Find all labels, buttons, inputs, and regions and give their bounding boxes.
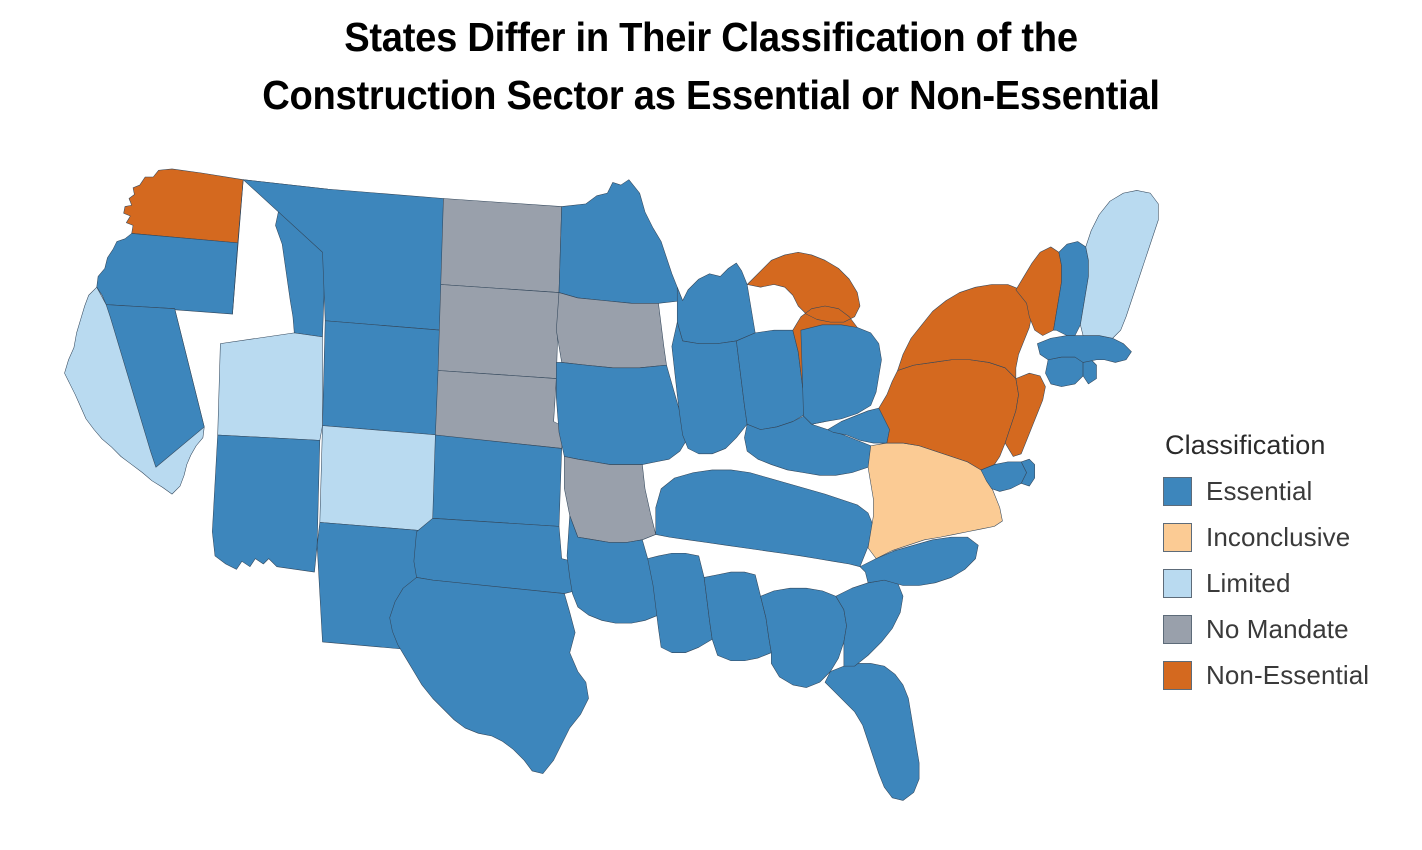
legend: Classification Essential Inconclusive Li…: [1163, 430, 1413, 698]
legend-item-non-essential[interactable]: Non-Essential: [1163, 652, 1413, 698]
legend-swatch-essential: [1163, 477, 1192, 506]
legend-label-limited: Limited: [1206, 568, 1291, 599]
state-al[interactable]: AL: Essential: [704, 572, 771, 661]
state-in[interactable]: IN: Essential: [736, 330, 806, 429]
state-ut[interactable]: UT: Limited: [218, 333, 323, 441]
state-ne[interactable]: NE: No Mandate: [435, 371, 564, 449]
state-fl[interactable]: FL: Essential: [825, 663, 919, 800]
state-me[interactable]: ME: Limited: [1080, 190, 1158, 338]
legend-label-no-mandate: No Mandate: [1206, 614, 1349, 645]
legend-swatch-inconclusive: [1163, 523, 1192, 552]
page-title: States Differ in Their Classification of…: [50, 8, 1372, 124]
state-co[interactable]: CO: Limited: [320, 426, 438, 532]
state-ri[interactable]: RI: Essential: [1083, 360, 1096, 384]
state-ms[interactable]: MS: Essential: [648, 553, 713, 652]
legend-swatch-no-mandate: [1163, 615, 1192, 644]
legend-label-inconclusive: Inconclusive: [1206, 522, 1350, 553]
legend-swatch-limited: [1163, 569, 1192, 598]
state-wy[interactable]: WY: Essential: [323, 321, 441, 435]
page-title-line-1: States Differ in Their Classification of…: [50, 8, 1372, 66]
state-wa[interactable]: WA: Non-Essential: [124, 169, 244, 243]
state-ct[interactable]: CT: Essential: [1045, 357, 1083, 387]
state-ks[interactable]: KS: Essential: [433, 435, 562, 526]
legend-item-no-mandate[interactable]: No Mandate: [1163, 606, 1413, 652]
state-ia[interactable]: IA: No Mandate: [556, 293, 666, 368]
legend-item-essential[interactable]: Essential: [1163, 468, 1413, 514]
state-ma[interactable]: MA: Essential: [1037, 336, 1131, 363]
legend-item-inconclusive[interactable]: Inconclusive: [1163, 514, 1413, 560]
state-oh[interactable]: OH: Essential: [801, 325, 882, 424]
state-wi[interactable]: WI: Essential: [677, 263, 755, 344]
state-tx[interactable]: TX: Essential: [390, 577, 589, 773]
state-mo[interactable]: MO: Essential: [556, 362, 688, 464]
legend-label-non-essential: Non-Essential: [1206, 660, 1369, 691]
state-sd[interactable]: SD: No Mandate: [438, 285, 559, 379]
legend-swatch-non-essential: [1163, 661, 1192, 690]
state-mn[interactable]: MN: Essential: [559, 180, 683, 304]
state-sc[interactable]: SC: Essential: [836, 580, 903, 666]
us-map-container: WA: Non-EssentialOR: EssentialCA: Limite…: [0, 128, 1290, 828]
states-layer: WA: Non-EssentialOR: EssentialCA: Limite…: [65, 169, 1159, 801]
state-tn[interactable]: TN: Essential: [656, 470, 874, 567]
legend-title: Classification: [1165, 430, 1413, 461]
state-az[interactable]: AZ: Essential: [212, 435, 320, 572]
page-title-line-2: Construction Sector as Essential or Non-…: [50, 66, 1372, 124]
us-states-map: WA: Non-EssentialOR: EssentialCA: Limite…: [0, 128, 1290, 828]
state-or[interactable]: OR: Essential: [97, 233, 238, 314]
choropleth-map-figure: States Differ in Their Classification of…: [0, 0, 1422, 850]
state-ar[interactable]: AR: No Mandate: [564, 457, 655, 543]
state-mt[interactable]: MT: Essential: [243, 180, 443, 331]
state-nd[interactable]: ND: No Mandate: [441, 199, 562, 293]
legend-item-limited[interactable]: Limited: [1163, 560, 1413, 606]
legend-label-essential: Essential: [1206, 476, 1312, 507]
